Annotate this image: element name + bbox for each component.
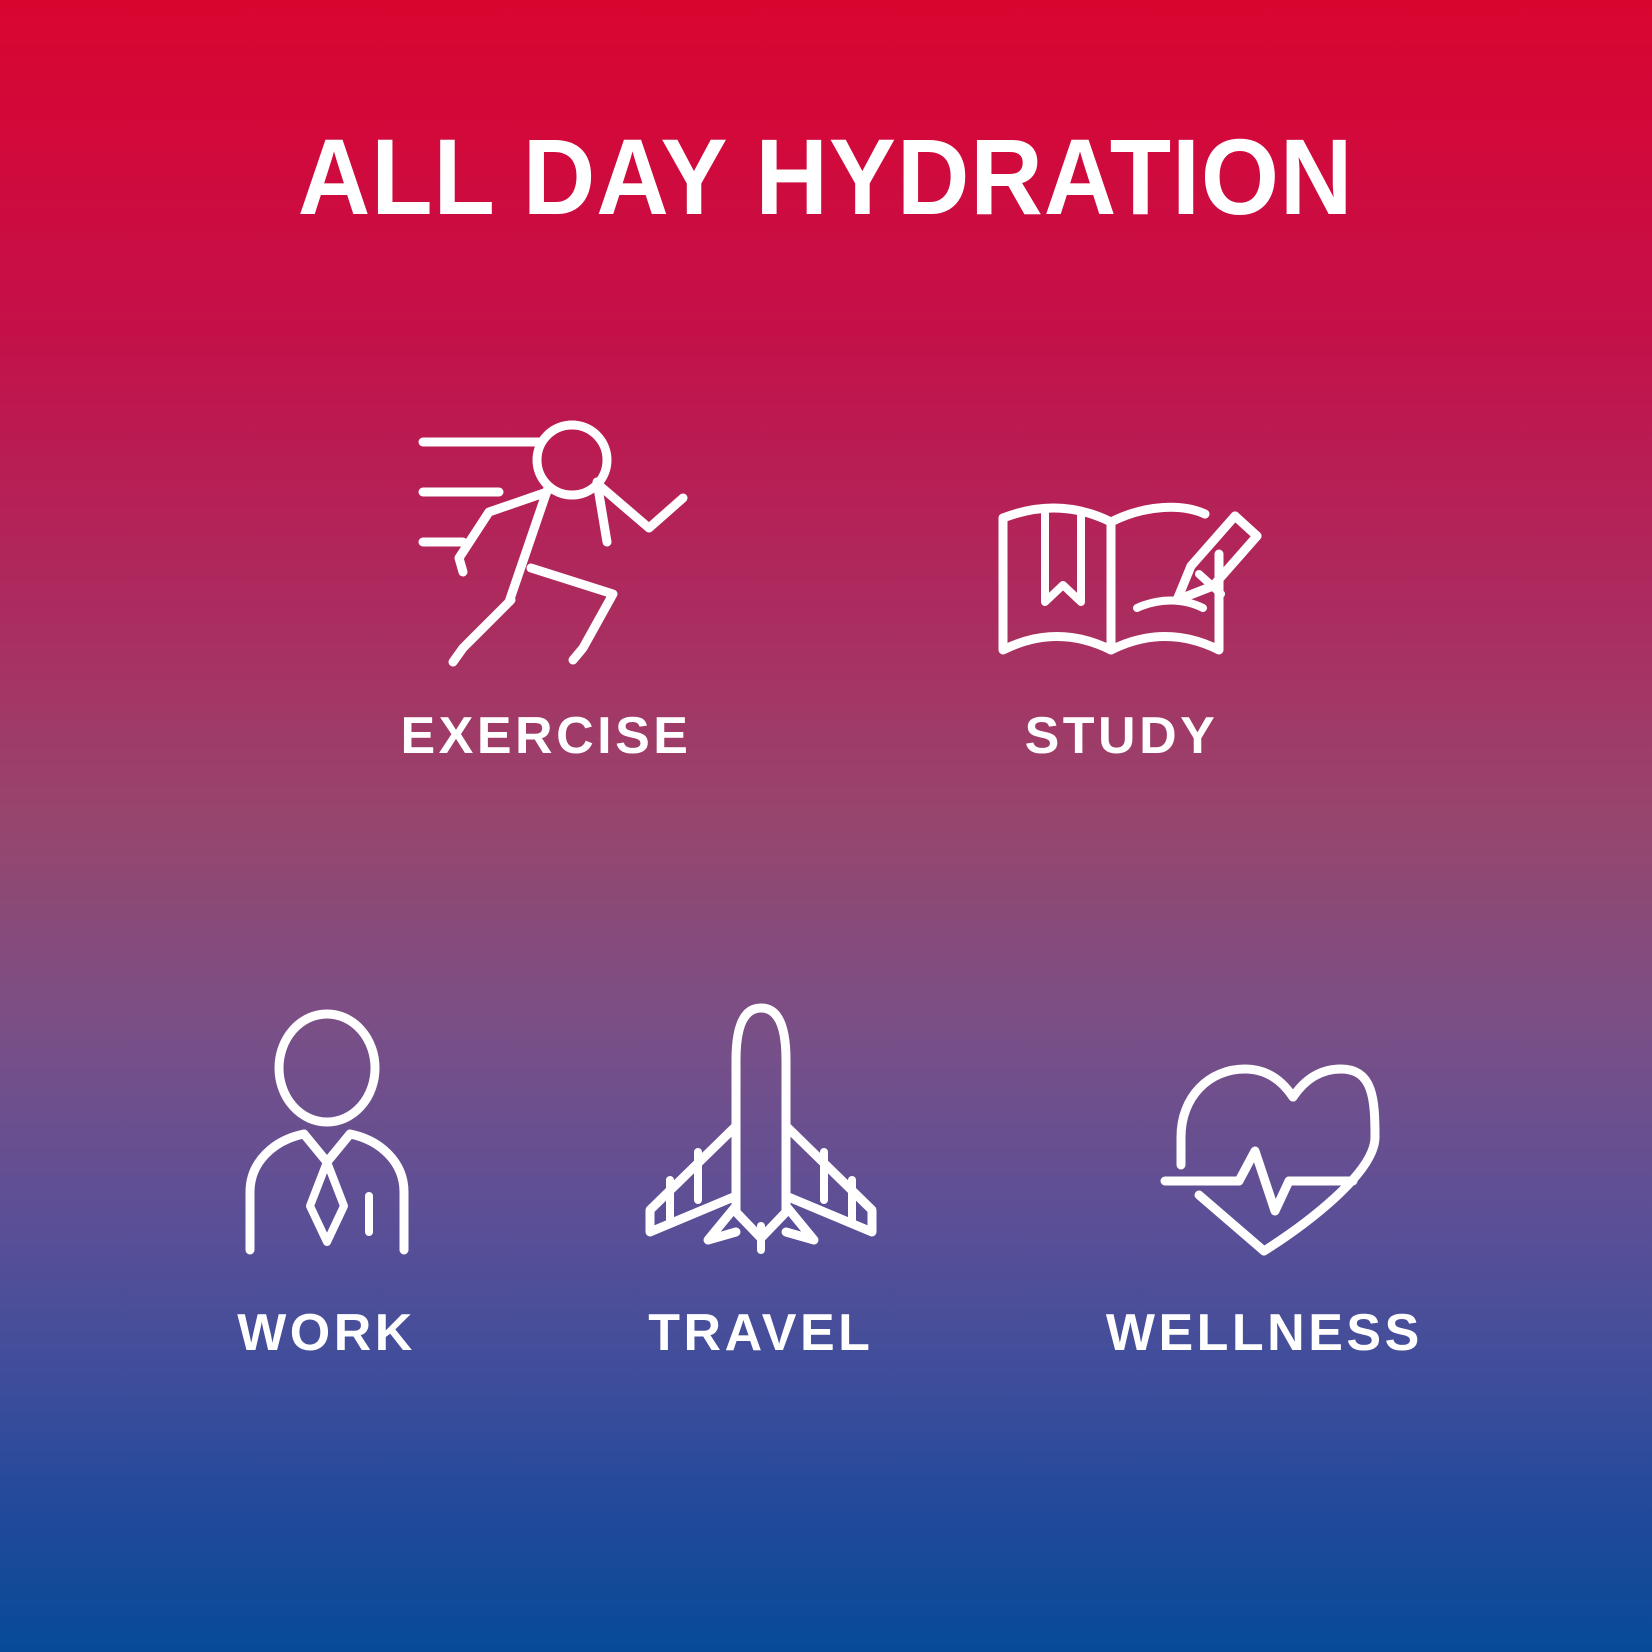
- airplane-icon: [636, 1000, 886, 1255]
- page-title: ALL DAY HYDRATION: [298, 120, 1354, 233]
- benefit-item-work: WORK: [237, 1010, 416, 1359]
- benefit-label-wellness: WELLNESS: [1106, 1307, 1423, 1359]
- benefit-item-exercise: EXERCISE: [401, 420, 692, 762]
- benefit-item-study: STUDY: [991, 492, 1251, 762]
- page-title-container: ALL DAY HYDRATION: [0, 120, 1652, 233]
- benefit-row-top: EXERCISE: [300, 420, 1352, 762]
- businessperson-tie-icon: [242, 1010, 412, 1255]
- benefit-item-travel: TRAVEL: [636, 1000, 886, 1359]
- benefit-label-travel: TRAVEL: [648, 1307, 873, 1359]
- benefit-label-study: STUDY: [1025, 710, 1219, 762]
- benefit-label-work: WORK: [237, 1307, 416, 1359]
- running-person-icon: [401, 420, 691, 670]
- benefit-item-wellness: WELLNESS: [1106, 1055, 1423, 1359]
- benefit-row-bottom: WORK: [150, 1000, 1510, 1359]
- heart-heartbeat-icon: [1147, 1055, 1382, 1255]
- all-day-hydration-poster: ALL DAY HYDRATION: [0, 0, 1652, 1652]
- open-book-pencil-icon: [991, 492, 1251, 670]
- benefit-label-exercise: EXERCISE: [401, 710, 692, 762]
